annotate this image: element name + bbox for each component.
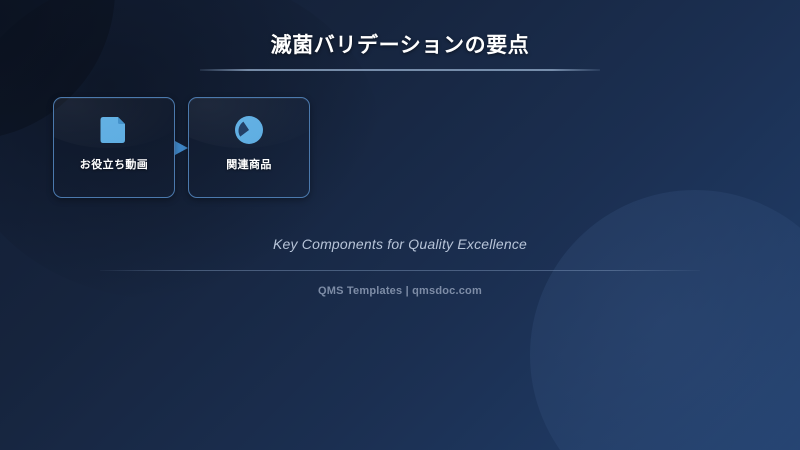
slide-subtitle: Key Components for Quality Excellence xyxy=(0,236,800,252)
page-title: 滅菌バリデーションの要点 xyxy=(0,29,800,59)
arrow-right-icon xyxy=(175,141,188,155)
decorative-circle-bottom-right xyxy=(530,190,800,450)
card-row: お役立ち動画 関連商品 xyxy=(53,97,310,198)
slide-canvas: 滅菌バリデーションの要点 お役立ち動画 関連 xyxy=(0,0,800,450)
connector-arrow xyxy=(175,97,188,198)
card-related-products[interactable]: 関連商品 xyxy=(188,97,310,198)
title-divider xyxy=(200,69,600,71)
card-label: お役立ち動画 xyxy=(80,156,148,172)
footer-text: QMS Templates | qmsdoc.com xyxy=(0,285,800,297)
document-icon xyxy=(97,113,131,147)
card-helpful-video[interactable]: お役立ち動画 xyxy=(53,97,175,198)
footer-divider xyxy=(100,270,700,271)
card-label: 関連商品 xyxy=(226,156,272,172)
pie-chart-icon xyxy=(232,113,266,147)
